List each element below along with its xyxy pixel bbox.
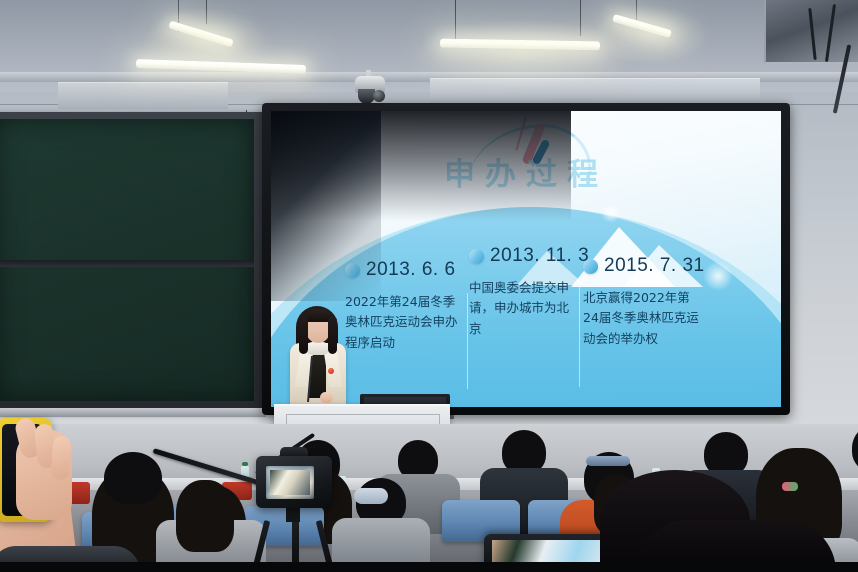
- timeline-body: 2022年第24届冬季奥林匹克运动会申办程序启动: [345, 292, 463, 353]
- face-mask: [354, 488, 388, 504]
- chalk-tray: [0, 408, 266, 417]
- timeline-body: 中国奥委会提交申请，申办城市为北京: [469, 278, 577, 339]
- leaf-check-icon: [582, 257, 600, 275]
- timeline-date-row: 2015. 7. 31: [583, 255, 705, 277]
- timeline-column-2: 2013. 11. 3 中国奥委会提交申请，申办城市为北京: [469, 245, 577, 339]
- headband: [586, 456, 630, 466]
- column-divider: [579, 287, 580, 387]
- leaf-check-icon: [468, 247, 486, 265]
- chalkboard-divider: [0, 260, 254, 267]
- presenter-hand: [320, 392, 333, 403]
- audience-head: [104, 452, 162, 504]
- finger: [50, 435, 71, 480]
- timeline-date: 2013. 11. 3: [490, 245, 589, 267]
- presenter-collar: [306, 342, 329, 355]
- light-glow: [590, 4, 710, 66]
- projection-falloff: [271, 111, 381, 301]
- presenter-hair-side: [328, 316, 337, 354]
- timeline-date-row: 2013. 11. 3: [469, 245, 577, 267]
- camera-lcd-preview: [270, 470, 310, 495]
- frame-bottom-edge: [0, 562, 858, 572]
- timeline-body: 北京赢得2022年第24届冬季奥林匹克运动会的举办权: [583, 288, 705, 349]
- ceiling-camera-lens: [373, 90, 385, 102]
- audience-hair-long: [176, 480, 234, 552]
- tripod-head: [286, 506, 300, 522]
- timeline-column-3: 2015. 7. 31 北京赢得2022年第24届冬季奥林匹克运动会的举办权: [583, 255, 705, 349]
- presenter-badge-pin: [328, 368, 334, 374]
- hair-clip: [782, 482, 798, 491]
- timeline-date: 2015. 7. 31: [604, 255, 705, 277]
- classroom-presentation-photo: 申办过程 2013. 6. 6 2022年第24届冬季奥林匹克运动会申办程序启动…: [0, 0, 858, 572]
- slide-bokeh: [703, 261, 733, 291]
- chalkboard: [0, 112, 271, 412]
- wall-panel-left: [58, 82, 228, 109]
- presentation-screen[interactable]: 申办过程 2013. 6. 6 2022年第24届冬季奥林匹克运动会申办程序启动…: [271, 111, 781, 407]
- presenter-hair-side: [299, 316, 308, 354]
- slide-bokeh: [601, 203, 621, 223]
- column-divider: [467, 293, 468, 389]
